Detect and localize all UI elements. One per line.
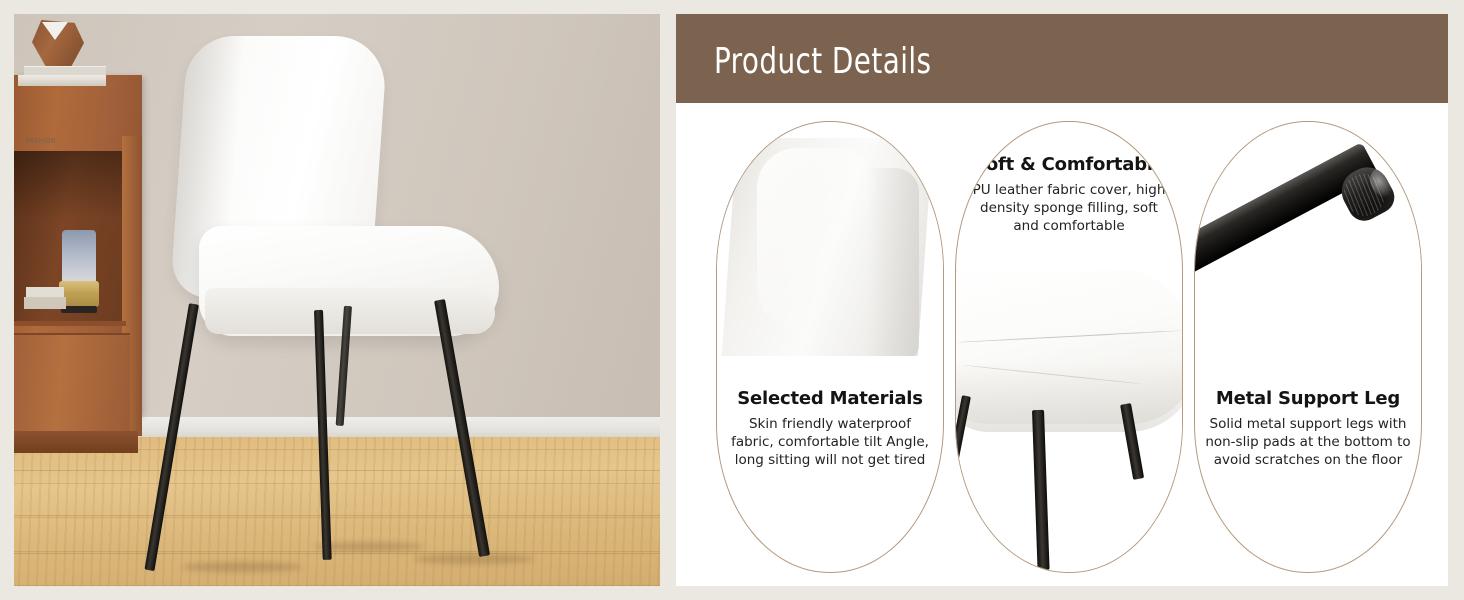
feature-title: Soft & Comfortable — [966, 154, 1172, 175]
cabinet-drawer — [14, 333, 130, 433]
feature-card-soft-comfortable: Soft & Comfortable PU leather fabric cov… — [955, 121, 1183, 573]
product-details-panel: Product Details Selected Materials Skin … — [676, 14, 1448, 586]
cabinet-shelf-edge — [14, 321, 126, 326]
shelf-book — [26, 287, 64, 297]
shelf-book — [24, 297, 66, 309]
cushion-shading — [956, 362, 1182, 432]
page-title: Product Details — [714, 41, 931, 82]
product-detail-banner: FASHION Product Details — [0, 0, 1464, 600]
feature-text-soft-comfortable: Soft & Comfortable PU leather fabric cov… — [956, 154, 1182, 236]
feature-image-selected-materials — [717, 138, 943, 356]
floor-plank — [14, 515, 660, 516]
panel-header-bar: Product Details — [676, 14, 1448, 103]
table-lamp-foot — [61, 306, 97, 313]
book-spine-text: FASHION — [26, 138, 56, 146]
white-chair — [161, 36, 511, 326]
feature-text-selected-materials: Selected Materials Skin friendly waterpr… — [717, 388, 943, 470]
floor-plank — [14, 470, 660, 471]
feature-card-metal-support-leg: Metal Support Leg Solid metal support le… — [1194, 121, 1422, 573]
backrest-edge-shading — [867, 168, 919, 356]
feature-image-metal-support-leg — [1195, 130, 1421, 356]
table-lamp-shade — [62, 230, 96, 284]
feature-description: Skin friendly waterproof fabric, comfort… — [727, 416, 933, 470]
feature-text-metal-support-leg: Metal Support Leg Solid metal support le… — [1195, 388, 1421, 470]
leg-floor-shadow — [414, 554, 534, 564]
cabinet-base — [14, 431, 138, 453]
feature-description: Solid metal support legs with non-slip p… — [1205, 416, 1411, 470]
lifestyle-photo: FASHION — [14, 14, 660, 586]
leg-floor-shadow — [182, 562, 302, 572]
feature-title: Selected Materials — [727, 388, 933, 409]
feature-title: Metal Support Leg — [1205, 388, 1411, 409]
wood-floor — [14, 437, 660, 586]
sideboard-cabinet — [14, 75, 142, 415]
chair-leg — [1032, 410, 1050, 570]
feature-card-list: Selected Materials Skin friendly waterpr… — [676, 103, 1448, 586]
metal-leg-joint — [1323, 211, 1342, 243]
feature-description: PU leather fabric cover, high density sp… — [966, 182, 1172, 236]
stacked-book: FASHION — [18, 75, 106, 86]
backrest-highlight — [757, 148, 877, 328]
floor-plank — [14, 553, 660, 554]
feature-card-selected-materials: Selected Materials Skin friendly waterpr… — [716, 121, 944, 573]
feature-image-soft-comfortable — [956, 270, 1182, 572]
